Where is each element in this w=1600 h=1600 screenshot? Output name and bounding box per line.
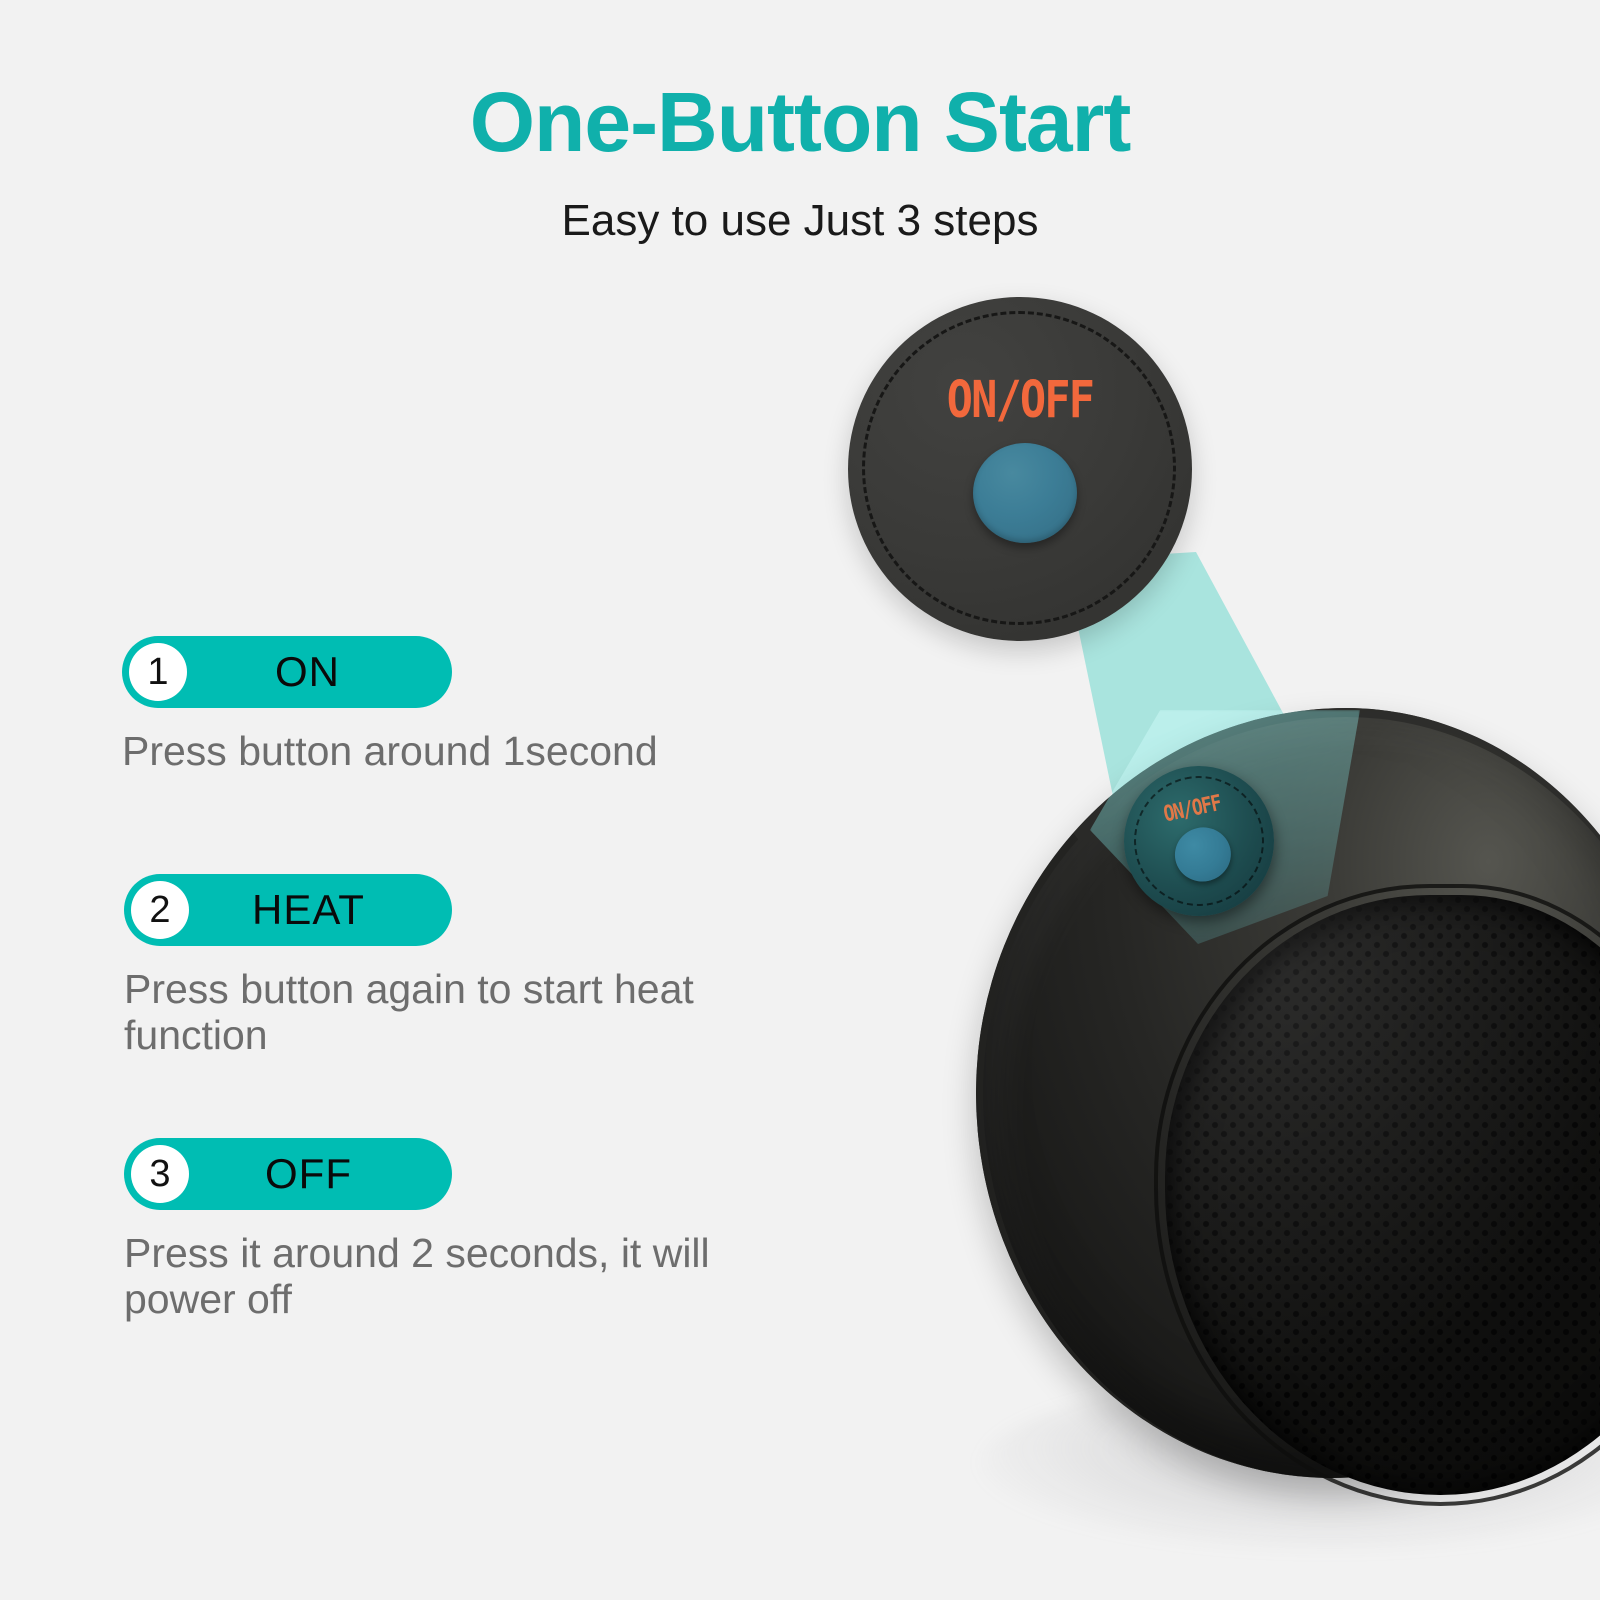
step-1-badge[interactable]: 1 ON — [122, 636, 452, 708]
step-3-number: 3 — [131, 1145, 189, 1203]
callout-onoff-label: ON/OFF — [874, 371, 1166, 430]
step-1-description: Press button around 1second — [122, 728, 658, 774]
step-2-description: Press button again to start heat functio… — [124, 966, 694, 1059]
product-mesh-panel — [1165, 895, 1600, 1495]
page-subtitle: Easy to use Just 3 steps — [0, 196, 1600, 246]
step-3-label: OFF — [189, 1150, 422, 1198]
step-3-badge[interactable]: 3 OFF — [124, 1138, 452, 1210]
step-2-number: 2 — [131, 881, 189, 939]
step-2-label: HEAT — [189, 886, 422, 934]
step-2-badge[interactable]: 2 HEAT — [124, 874, 452, 946]
step-3: 3 OFF Press it around 2 seconds, it will… — [124, 1138, 710, 1323]
page-title: One-Button Start — [0, 78, 1600, 166]
step-3-description: Press it around 2 seconds, it will power… — [124, 1230, 710, 1323]
magnified-button-callout: ON/OFF — [848, 297, 1192, 641]
step-1: 1 ON Press button around 1second — [122, 636, 658, 774]
step-2: 2 HEAT Press button again to start heat … — [124, 874, 694, 1059]
step-1-label: ON — [187, 648, 422, 696]
product-massage-pillow: ON/OFF — [940, 690, 1600, 1520]
callout-power-button[interactable] — [973, 443, 1077, 543]
infographic-canvas: One-Button Start Easy to use Just 3 step… — [0, 0, 1600, 1600]
step-1-number: 1 — [129, 643, 187, 701]
